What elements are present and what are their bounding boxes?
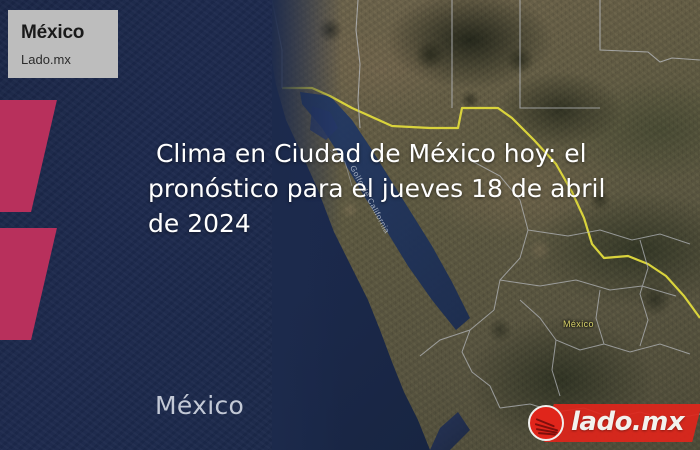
screenshot-root: México Golfo de California México Lado.m… xyxy=(0,0,700,450)
map-country-label: México xyxy=(563,319,594,329)
lado-mx-logo[interactable]: lado.mx xyxy=(525,398,697,448)
section-label: México xyxy=(155,391,244,420)
logo-wordmark: lado.mx xyxy=(571,407,684,437)
site-badge-subtitle: Lado.mx xyxy=(21,52,71,67)
article-headline[interactable]: Clima en Ciudad de México hoy: el pronós… xyxy=(148,136,618,241)
speed-lines-circle-icon xyxy=(528,405,564,441)
site-badge-title: México xyxy=(21,22,84,44)
site-badge[interactable]: México Lado.mx xyxy=(8,10,118,78)
